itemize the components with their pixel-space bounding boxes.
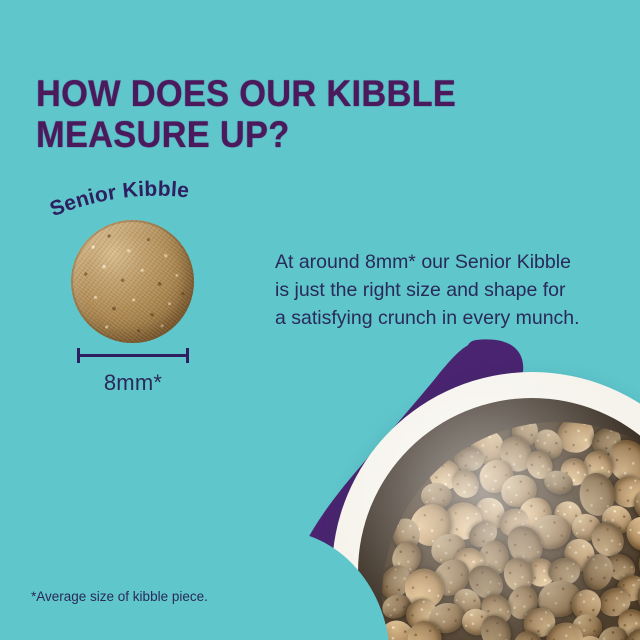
arched-text-svg: Senior Kibble <box>44 178 234 224</box>
kibble-label: Senior Kibble <box>44 178 234 224</box>
page-title: HOW DOES OUR KIBBLE MEASURE UP? <box>36 73 520 155</box>
measurement-line <box>77 354 189 357</box>
product-photo <box>290 330 640 640</box>
kibble-edge <box>71 220 194 343</box>
poster-canvas: HOW DOES OUR KIBBLE MEASURE UP? Senior K… <box>0 0 640 640</box>
kibble-pile <box>382 422 640 640</box>
measurement-value: 8mm* <box>77 370 189 396</box>
body-paragraph: At around 8mm* our Senior Kibble is just… <box>275 248 620 332</box>
senior-kibble-piece-image <box>71 220 194 343</box>
bowl-interior <box>358 398 640 640</box>
measurement-cap-right <box>186 348 189 363</box>
footnote-text: *Average size of kibble piece. <box>31 589 208 604</box>
measurement-bar <box>77 348 189 363</box>
kibble-label-text: Senior Kibble <box>47 178 190 222</box>
